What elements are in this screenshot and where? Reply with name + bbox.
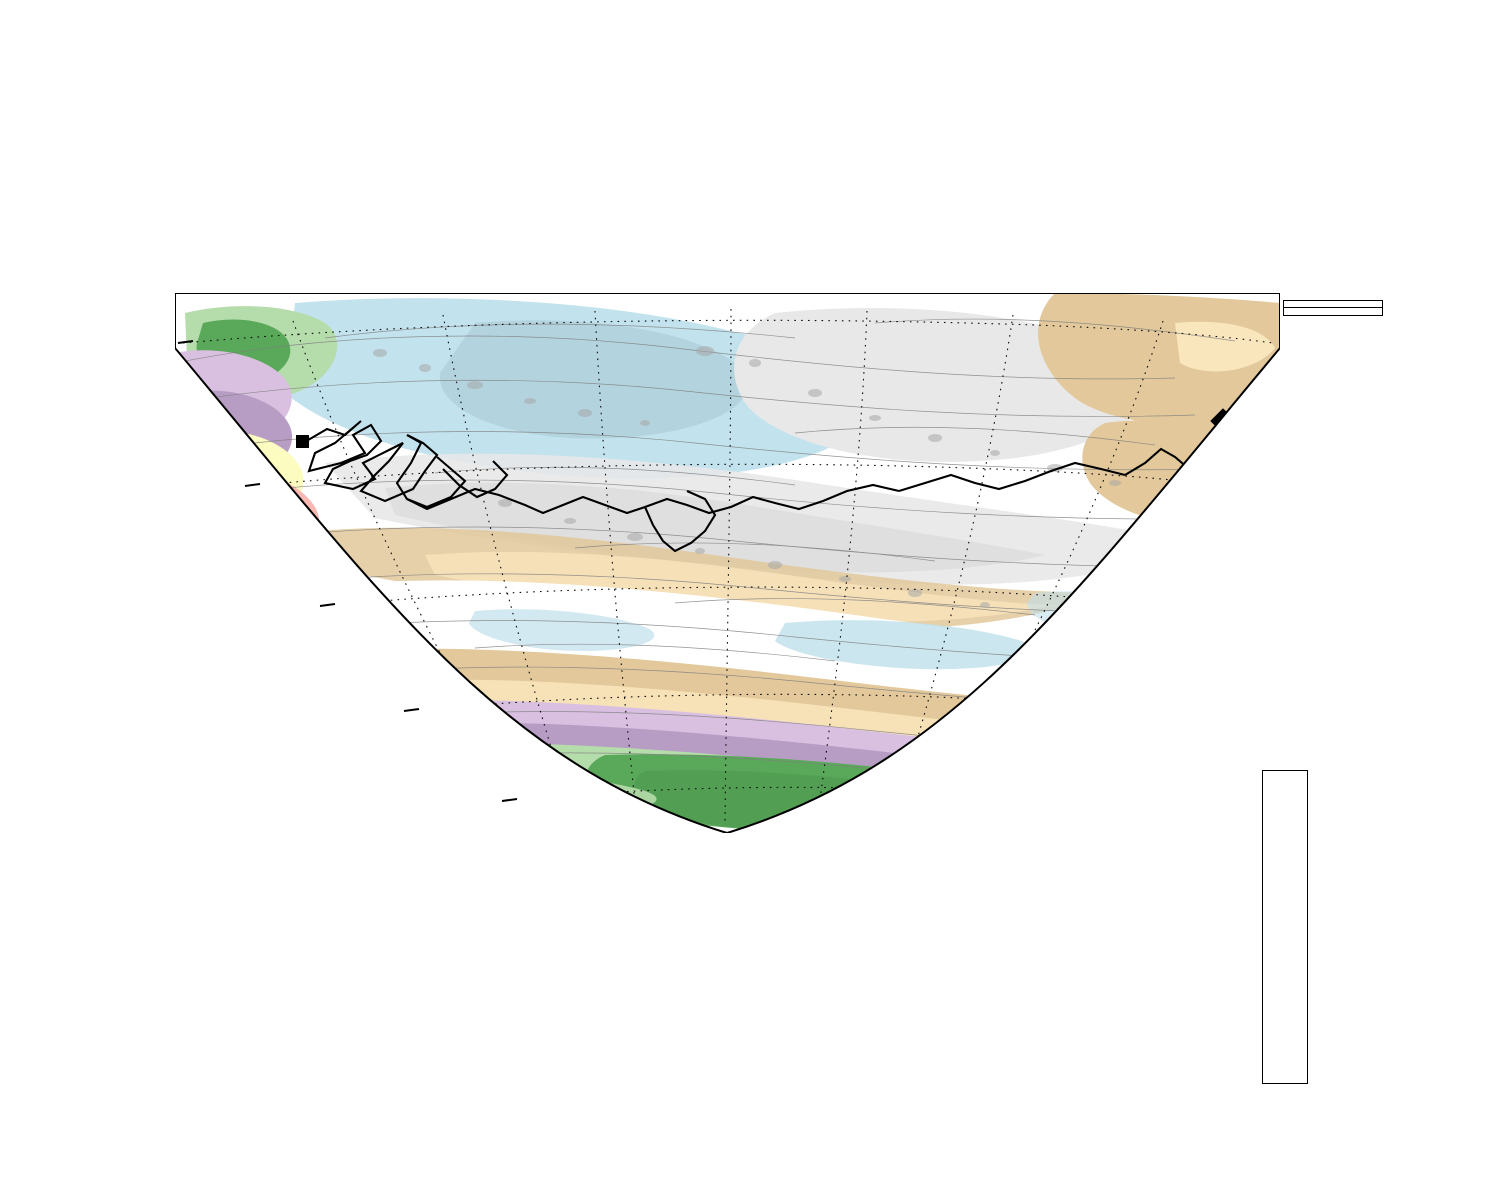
cycle-legend[interactable] — [1283, 300, 1383, 316]
figure-canvas — [0, 0, 1500, 1200]
colorbar-ticks — [1307, 770, 1317, 1082]
map-panel[interactable] — [175, 293, 1280, 833]
map-content — [175, 293, 1280, 833]
map-svg — [175, 293, 1280, 833]
legend-entries — [1284, 308, 1382, 315]
legend-title — [1284, 301, 1382, 308]
launch-marker — [296, 435, 309, 448]
colorbar-gradient — [1262, 770, 1308, 1084]
elevation-colorbar[interactable] — [1262, 770, 1308, 1084]
